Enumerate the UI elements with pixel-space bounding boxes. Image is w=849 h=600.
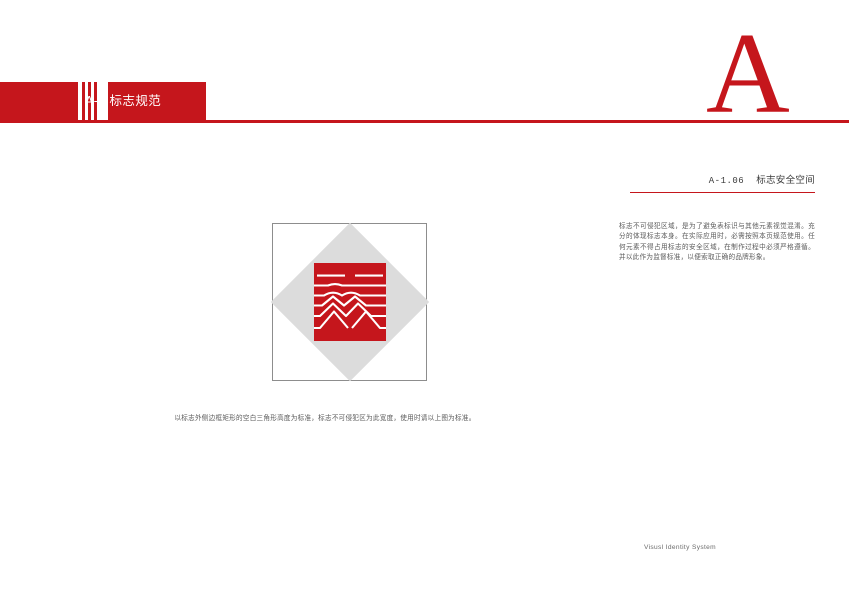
- section-code: A-1.06: [709, 176, 744, 186]
- decor-letter-a: A: [706, 18, 816, 130]
- page-canvas: A-1 标志规范 A A-1.06标志安全空间 标志不可侵犯区域，是为了避免表标…: [0, 0, 849, 600]
- spec-caption: 以标志外侧边框矩形的空白三角形高度为标准，标志不可侵犯区为此宽度，使用时请以上图…: [120, 412, 530, 422]
- header-red-block-left: [0, 82, 78, 120]
- section-heading-rule: [630, 192, 815, 193]
- chapter-label: A-1 标志规范: [85, 82, 245, 120]
- section-title: 标志安全空间: [756, 175, 815, 186]
- section-body-paragraph: 标志不可侵犯区域，是为了避免表标识与其他元素视觉混淆。充分的体现标志本身。在实际…: [619, 222, 815, 264]
- wave-stack-logo: [314, 263, 386, 341]
- section-heading: A-1.06标志安全空间: [600, 172, 815, 186]
- wave-stack-logo-svg: [314, 263, 386, 341]
- footer-text: Visusl Identity System: [600, 544, 760, 551]
- section-body-copy: 标志不可侵犯区域，是为了避免表标识与其他元素视觉混淆。充分的体现标志本身。在实际…: [619, 222, 815, 264]
- logo-spec-frame: [272, 223, 427, 381]
